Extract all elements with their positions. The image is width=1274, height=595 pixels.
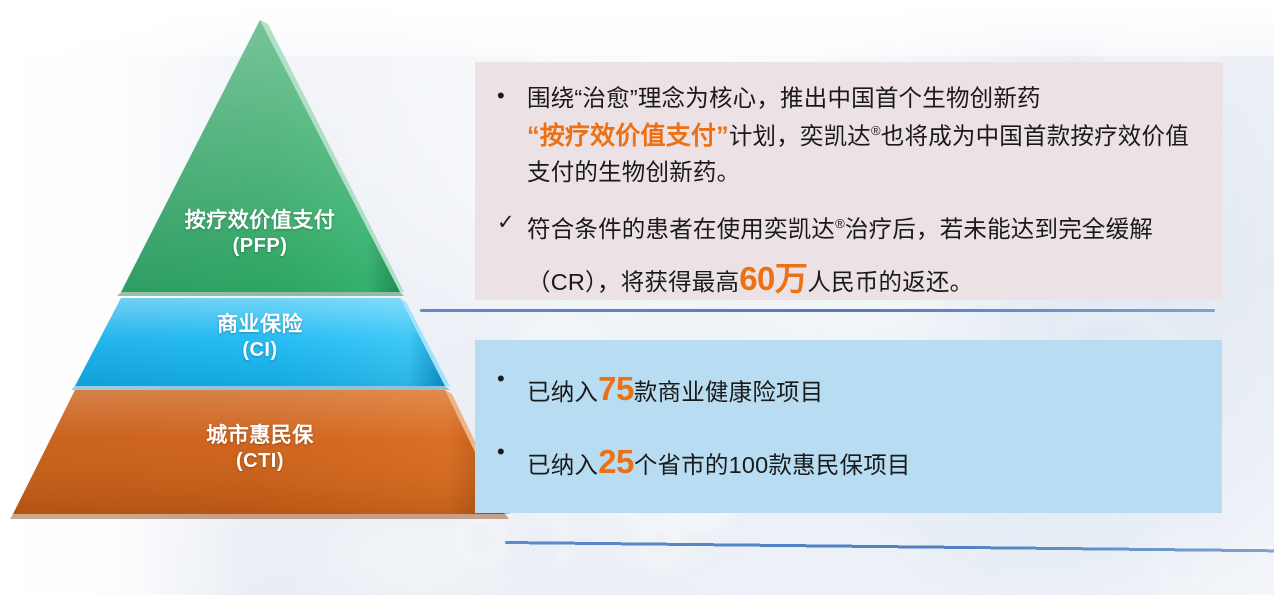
pyramid-label-pfp-title: 按疗效价值支付 — [0, 208, 520, 234]
bullet-seg-plain: 符合条件的患者在使用奕凯达 — [527, 216, 835, 242]
bullet-text: 已纳入75款商业健康险项目 — [527, 364, 823, 414]
bullet-seg-plain: 已纳入 — [527, 452, 598, 478]
registered-trademark-symbol: ® — [871, 123, 881, 138]
checkmark-icon: ✓ — [497, 209, 527, 237]
pyramid-label-pfp-abbr: (PFP) — [0, 234, 520, 258]
registered-trademark-symbol: ® — [835, 216, 845, 231]
callout-panel-pfp-program: • 围绕“治愈”理念为核心，推出中国首个生物创新药“按疗效价值支付”计划，奕凯达… — [475, 62, 1223, 300]
pyramid-label-cti-title: 城市惠民保 — [0, 423, 520, 449]
bullet-item: ✓ 符合条件的患者在使用奕凯达®治疗后，若未能达到完全缓解（CR），将获得最高6… — [497, 209, 1197, 308]
bullet-seg-highlight: “按疗效价值支付” — [527, 122, 729, 150]
bullet-seg-plain-2: 款商业健康险项目 — [634, 379, 824, 405]
bullet-seg-plain-2: 个省市的100款惠民保项目 — [634, 452, 911, 478]
highlight-amount: 60万 — [739, 260, 807, 297]
pyramid-label-layer: 按疗效价值支付 (PFP) 商业保险 (CI) 城市惠民保 (CTI) — [0, 0, 520, 595]
divider-line-top — [420, 309, 1215, 312]
highlight-count: 75 — [598, 370, 634, 407]
highlight-count: 25 — [598, 443, 634, 480]
bullet-item: • 已纳入75款商业健康险项目 — [497, 364, 1187, 414]
callout-panel-coverage-stats: • 已纳入75款商业健康险项目 • 已纳入25个省市的100款惠民保项目 — [475, 340, 1222, 513]
bullet-seg-plain-2: 计划，奕凯达 — [729, 123, 871, 149]
bullet-seg-plain: 围绕“治愈”理念为核心，推出中国首个生物创新药 — [527, 85, 1041, 111]
bullet-seg-plain-3: 人民币的返还。 — [807, 269, 973, 295]
bullet-item: • 已纳入25个省市的100款惠民保项目 — [497, 437, 1187, 487]
slide-canvas: 按疗效价值支付 (PFP) 商业保险 (CI) 城市惠民保 (CTI) • 围绕… — [0, 0, 1274, 595]
bullet-item: • 围绕“治愈”理念为核心，推出中国首个生物创新药“按疗效价值支付”计划，奕凯达… — [497, 81, 1197, 190]
bullet-text: 已纳入25个省市的100款惠民保项目 — [527, 437, 911, 487]
bullet-dot-icon: • — [497, 364, 527, 394]
pyramid-label-ci: 商业保险 (CI) — [0, 312, 520, 362]
bullet-seg-plain: 已纳入 — [527, 379, 598, 405]
bullet-text: 符合条件的患者在使用奕凯达®治疗后，若未能达到完全缓解（CR），将获得最高60万… — [527, 209, 1197, 308]
bullet-text: 围绕“治愈”理念为核心，推出中国首个生物创新药“按疗效价值支付”计划，奕凯达®也… — [527, 81, 1197, 190]
pyramid-label-ci-abbr: (CI) — [0, 338, 520, 362]
pyramid-label-ci-title: 商业保险 — [0, 312, 520, 338]
pyramid-label-cti-abbr: (CTI) — [0, 449, 520, 473]
bullet-dot-icon: • — [497, 81, 527, 111]
bullet-dot-icon: • — [497, 437, 527, 467]
pyramid-label-pfp: 按疗效价值支付 (PFP) — [0, 208, 520, 258]
pyramid-label-cti: 城市惠民保 (CTI) — [0, 423, 520, 473]
